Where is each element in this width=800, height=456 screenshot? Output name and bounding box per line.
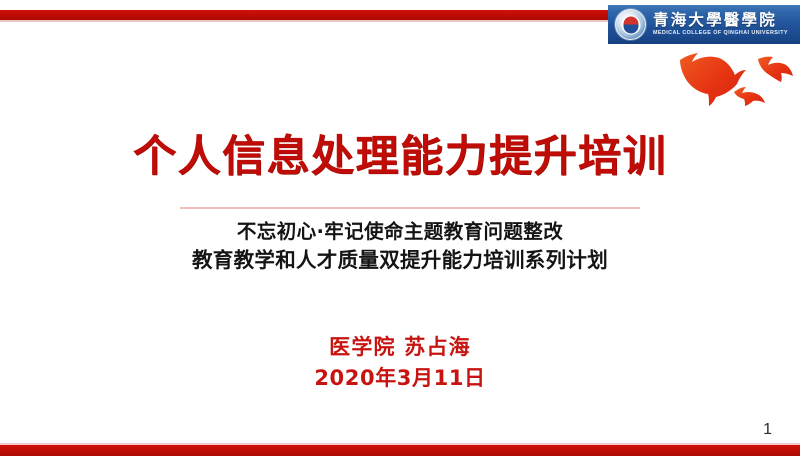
top-red-accent-bar [0, 10, 622, 20]
presentation-slide: 青海大學醫學院 MEDICAL COLLEGE OF QINGHAI UNIVE… [0, 0, 800, 456]
logo-name-en: MEDICAL COLLEGE OF QINGHAI UNIVERSITY [653, 31, 788, 36]
presenter-info-group: 医学院 苏占海 2020年3月11日 [0, 334, 800, 393]
institution-logo-band: 青海大學醫學院 MEDICAL COLLEGE OF QINGHAI UNIVE… [608, 5, 800, 44]
logo-text-group: 青海大學醫學院 MEDICAL COLLEGE OF QINGHAI UNIVE… [653, 13, 788, 37]
presenter-name: 医学院 苏占海 [0, 334, 800, 361]
flying-birds-icon [672, 50, 796, 108]
bottom-red-accent-bar [0, 445, 800, 456]
subtitle-line-2: 教育教学和人才质量双提升能力培训系列计划 [0, 247, 800, 275]
page-number: 1 [763, 421, 772, 439]
university-seal-icon [615, 9, 646, 40]
slide-main-title: 个人信息处理能力提升培训 [0, 133, 800, 181]
logo-name-cn: 青海大學醫學院 [653, 13, 788, 29]
slide-subtitle-group: 不忘初心·牢记使命主题教育问题整改 教育教学和人才质量双提升能力培训系列计划 [0, 219, 800, 275]
presentation-date: 2020年3月11日 [0, 365, 800, 392]
subtitle-line-1: 不忘初心·牢记使命主题教育问题整改 [0, 219, 800, 245]
title-divider-line [180, 207, 640, 209]
